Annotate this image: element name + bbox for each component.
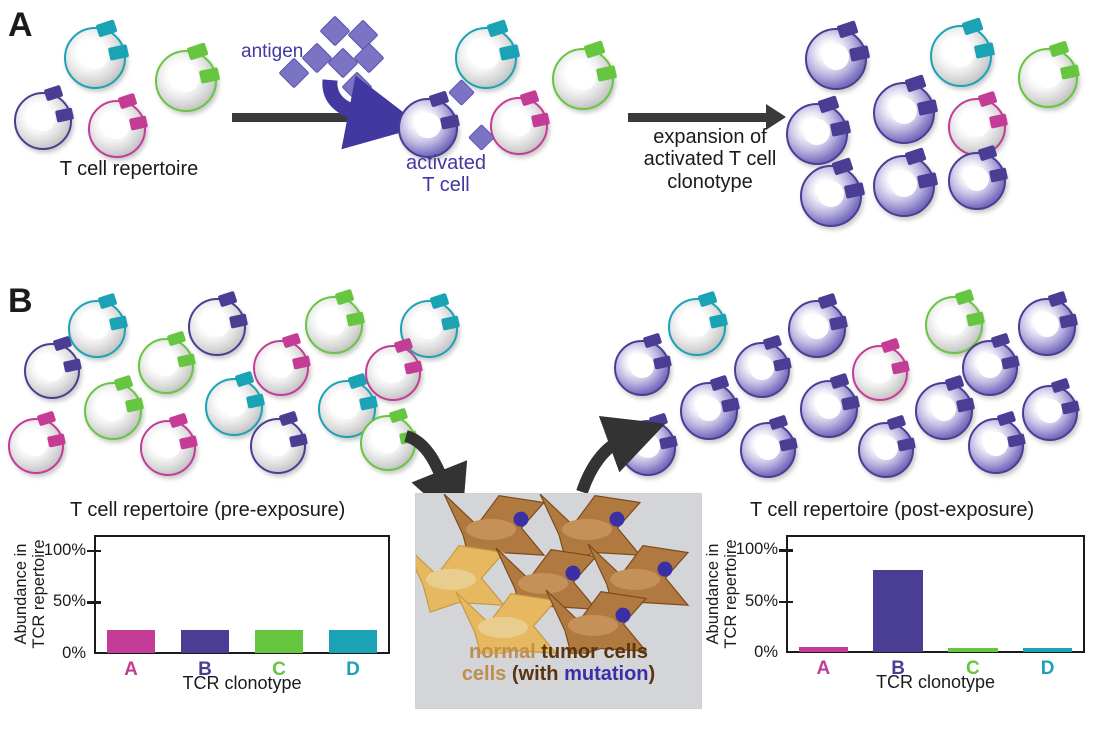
t-cell-nucleus-hole — [948, 41, 974, 67]
t-cell-nucleus-hole — [868, 359, 892, 383]
t-cell-nucleus-hole — [817, 395, 841, 419]
legend-mutation-word: mutation — [564, 663, 648, 685]
chart-post-plot-area — [786, 535, 1085, 653]
t-cell-nucleus-hole — [818, 181, 844, 207]
cell-nucleus — [610, 569, 660, 590]
antigen-molecule — [347, 19, 378, 50]
t-cell — [734, 342, 790, 398]
t-cell-nucleus-hole — [24, 432, 48, 456]
t-cell — [88, 100, 146, 158]
t-cell-nucleus-hole — [156, 434, 180, 458]
t-cell-nucleus-hole — [269, 354, 293, 378]
t-cell — [138, 338, 194, 394]
t-cell — [852, 345, 908, 401]
t-cell — [858, 422, 914, 478]
t-cell-nucleus-hole — [891, 98, 917, 124]
bar-a — [107, 630, 156, 653]
t-cell-nucleus-hole — [40, 357, 64, 381]
legend-tumor-close-paren: ) — [649, 663, 656, 685]
t-cell — [668, 298, 726, 356]
t-cell-nucleus-hole — [984, 432, 1008, 456]
panel-label-a: A — [8, 8, 33, 42]
t-cell — [64, 27, 126, 89]
t-cell — [305, 296, 363, 354]
y-axis-tick-label: 0% — [710, 643, 778, 662]
t-cell-nucleus-hole — [322, 311, 346, 335]
t-cell-nucleus-hole — [932, 397, 956, 421]
t-cell — [873, 155, 935, 217]
t-cell-nucleus-hole — [978, 354, 1002, 378]
t-cell-nucleus-hole — [85, 315, 109, 339]
activated-t-cell-label: activated T cell — [376, 152, 516, 197]
t-cell — [948, 98, 1006, 156]
t-cell-repertoire-label: T cell repertoire — [14, 158, 244, 180]
mutation-marker — [658, 562, 673, 577]
t-cell — [188, 298, 246, 356]
chart-post-xlabel: TCR clonotype — [786, 672, 1085, 693]
tumor-microenvironment-panel: normal tumor cells cells (with mutation) — [415, 493, 702, 709]
mutation-marker — [610, 512, 625, 527]
t-cell-nucleus-hole — [630, 354, 654, 378]
t-cell-nucleus-hole — [570, 64, 596, 90]
expansion-label: expansion of activated T cell clonotype — [610, 126, 810, 193]
y-axis-tick-mark — [779, 549, 793, 552]
t-cell-nucleus-hole — [804, 119, 830, 145]
t-cell — [915, 382, 973, 440]
bar-d — [329, 630, 378, 653]
t-cell-nucleus-hole — [1038, 399, 1062, 423]
t-cell-nucleus-hole — [823, 44, 849, 70]
t-cell — [948, 152, 1006, 210]
cell-nucleus — [562, 519, 612, 540]
y-axis-tick-label: 50% — [18, 592, 86, 611]
t-cell — [930, 25, 992, 87]
t-cell — [155, 50, 217, 112]
figure-root: A T cell repertoire antigen activated T … — [0, 0, 1100, 733]
t-cell — [24, 343, 80, 399]
t-cell-nucleus-hole — [105, 115, 129, 139]
chart-pre-xlabel: TCR clonotype — [94, 673, 390, 694]
t-cell-nucleus-hole — [376, 429, 400, 453]
tumor-legend: normal tumor cells cells (with mutation) — [416, 642, 701, 685]
chart-post-title: T cell repertoire (post-exposure) — [750, 499, 1034, 522]
t-cell — [1018, 48, 1078, 108]
t-cell-nucleus-hole — [417, 315, 441, 339]
y-axis-tick-mark — [779, 601, 793, 604]
chart-post-exposure: T cell repertoire (post-exposure) Abunda… — [692, 490, 1100, 733]
t-cell — [398, 98, 458, 158]
y-axis-tick-mark — [87, 601, 101, 604]
chart-pre-title: T cell repertoire (pre-exposure) — [70, 499, 345, 522]
t-cell-nucleus-hole — [965, 113, 989, 137]
t-cell-nucleus-hole — [1035, 313, 1059, 337]
t-cell — [84, 382, 142, 440]
t-cell-nucleus-hole — [685, 313, 709, 337]
t-cell — [800, 380, 858, 438]
mutation-marker — [566, 566, 581, 581]
expansion-arrow-shaft — [628, 113, 766, 122]
t-cell-nucleus-hole — [473, 43, 499, 69]
antigen-molecule — [319, 15, 350, 46]
t-cell-nucleus-hole — [266, 432, 290, 456]
legend-normal-cells-line1: normal — [469, 641, 541, 663]
tumor-cell-sheet — [416, 494, 701, 654]
t-cell — [140, 420, 196, 476]
y-axis-tick-label: 100% — [18, 541, 86, 560]
cell-nucleus — [426, 569, 476, 590]
t-cell-nucleus-hole — [697, 397, 721, 421]
t-cell-nucleus-hole — [942, 311, 966, 335]
cell-nucleus — [518, 573, 568, 594]
t-cell-nucleus-hole — [965, 167, 989, 191]
t-cell — [968, 418, 1024, 474]
mutation-marker — [514, 512, 529, 527]
t-cell — [800, 165, 862, 227]
t-cell-nucleus-hole — [82, 43, 108, 69]
legend-tumor-cells-line1: tumor cells — [541, 641, 648, 663]
t-cell-nucleus-hole — [805, 315, 829, 339]
bar-a — [799, 647, 848, 652]
legend-normal-cells-line2: cells — [462, 663, 512, 685]
t-cell — [552, 48, 614, 110]
t-cell — [1022, 385, 1078, 441]
t-cell — [788, 300, 846, 358]
t-cell — [14, 92, 72, 150]
mutation-marker — [616, 608, 631, 623]
y-axis-tick-label: 0% — [18, 644, 86, 663]
t-cell — [805, 28, 867, 90]
y-axis-tick-label: 100% — [710, 540, 778, 559]
legend-tumor-with-open: (with — [512, 663, 564, 685]
y-axis-tick-mark — [87, 550, 101, 553]
t-cell — [250, 418, 306, 474]
t-cell-nucleus-hole — [1035, 63, 1060, 88]
bar-b — [873, 570, 922, 652]
t-cell-nucleus-hole — [173, 66, 199, 92]
t-cell — [740, 422, 796, 478]
chart-pre-exposure: T cell repertoire (pre-exposure) Abundan… — [0, 490, 420, 733]
bar-c — [948, 648, 997, 652]
antigen-molecule — [353, 42, 384, 73]
t-cell-nucleus-hole — [381, 359, 405, 383]
t-cell-nucleus-hole — [31, 107, 55, 131]
bar-c — [255, 630, 304, 653]
t-cell — [786, 103, 848, 165]
t-cell-nucleus-hole — [756, 436, 780, 460]
bar-d — [1023, 648, 1072, 652]
t-cell-nucleus-hole — [874, 436, 898, 460]
t-cell — [490, 97, 548, 155]
t-cell-nucleus-hole — [205, 313, 229, 337]
t-cell-nucleus-hole — [507, 112, 531, 136]
t-cell — [1018, 298, 1076, 356]
cell-nucleus — [466, 519, 516, 540]
t-cell-nucleus-hole — [101, 397, 125, 421]
cell-nucleus — [478, 617, 528, 638]
t-cell-nucleus-hole — [335, 395, 359, 419]
t-cell-nucleus-hole — [222, 393, 246, 417]
t-cell — [873, 82, 935, 144]
t-cell-nucleus-hole — [415, 113, 440, 138]
panel-label-b: B — [8, 284, 33, 318]
bar-b — [181, 630, 230, 653]
t-cell — [8, 418, 64, 474]
t-cell-nucleus-hole — [154, 352, 178, 376]
t-cell — [614, 340, 670, 396]
cell-nucleus — [568, 615, 618, 636]
t-cell-nucleus-hole — [891, 171, 917, 197]
t-cell — [455, 27, 517, 89]
t-cell-nucleus-hole — [750, 356, 774, 380]
y-axis-tick-label: 50% — [710, 592, 778, 611]
